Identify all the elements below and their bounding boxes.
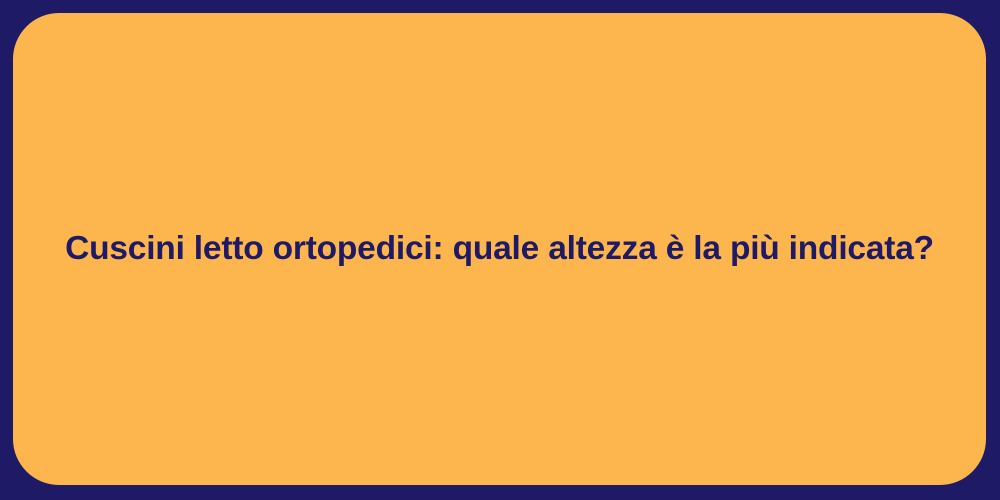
- banner-canvas: Cuscini letto ortopedici: quale altezza …: [0, 0, 1000, 500]
- banner-headline: Cuscini letto ortopedici: quale altezza …: [5, 228, 994, 270]
- banner-card: Cuscini letto ortopedici: quale altezza …: [13, 13, 986, 485]
